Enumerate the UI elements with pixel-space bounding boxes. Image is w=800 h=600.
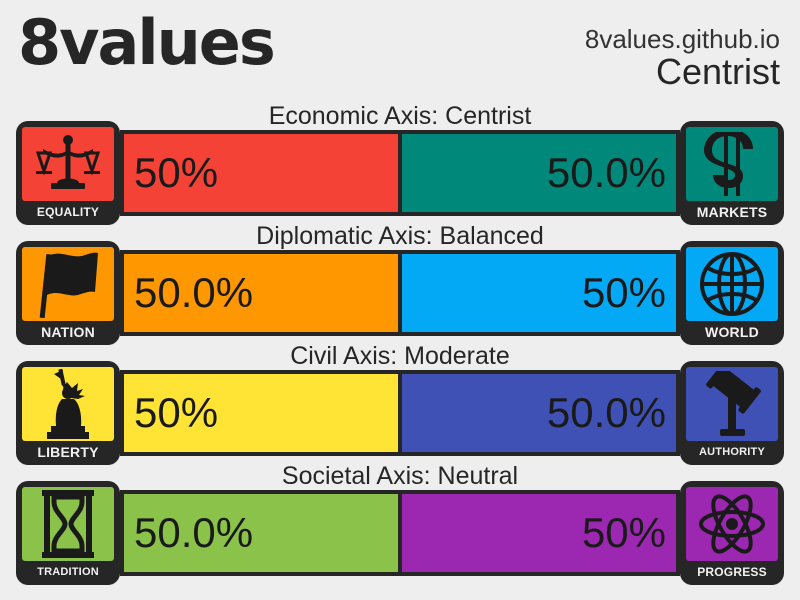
axis-bar: 50.0% 50% — [120, 490, 680, 576]
axis-row: Diplomatic Axis: Balanced 50.0% 50% NATI… — [0, 223, 800, 343]
axis-bar-left-segment: 50% — [124, 374, 398, 452]
axis-left-badge: NATION — [16, 241, 120, 345]
axis-left-badge: LIBERTY — [16, 361, 120, 465]
axis-title: Diplomatic Axis: Balanced — [0, 223, 800, 249]
axis-title: Economic Axis: Centrist — [0, 103, 800, 129]
axis-right-percent: 50% — [582, 272, 666, 314]
axis-title: Civil Axis: Moderate — [0, 343, 800, 369]
hourglass-icon — [22, 487, 114, 561]
axis-right-percent: 50.0% — [547, 392, 666, 434]
axis-row: Civil Axis: Moderate 50% 50.0% LIBERTY — [0, 343, 800, 463]
ideology-result-label: Centrist — [656, 54, 780, 90]
axis-left-percent: 50.0% — [134, 272, 253, 314]
axis-left-percent: 50% — [134, 392, 218, 434]
axis-left-label: NATION — [22, 321, 114, 343]
axis-bar-right-segment: 50.0% — [402, 374, 676, 452]
globe-icon — [686, 247, 778, 321]
axis-right-percent: 50.0% — [547, 152, 666, 194]
site-url-label: 8values.github.io — [585, 26, 780, 52]
axis-bar: 50% 50.0% — [120, 130, 680, 216]
axis-row: Societal Axis: Neutral 50.0% 50% TRADITI… — [0, 463, 800, 583]
axis-title: Societal Axis: Neutral — [0, 463, 800, 489]
axis-row: Economic Axis: Centrist 50% 50.0% EQUALI… — [0, 103, 800, 223]
axis-right-label: PROGRESS — [686, 561, 778, 583]
axis-bar-left-segment: 50.0% — [124, 254, 398, 332]
gavel-icon — [686, 367, 778, 441]
atom-icon — [686, 487, 778, 561]
axis-bar-right-segment: 50% — [402, 254, 676, 332]
app-title: 8values — [18, 12, 274, 74]
axis-right-badge: PROGRESS — [680, 481, 784, 585]
header: 8values 8values.github.io Centrist — [0, 0, 800, 100]
axis-left-percent: 50% — [134, 152, 218, 194]
axis-left-badge: EQUALITY — [16, 121, 120, 225]
axis-bar-left-segment: 50% — [124, 134, 398, 212]
flag-icon — [22, 247, 114, 321]
axis-right-label: WORLD — [686, 321, 778, 343]
axis-bar-right-segment: 50.0% — [402, 134, 676, 212]
axis-right-badge: WORLD — [680, 241, 784, 345]
axis-right-label: MARKETS — [686, 201, 778, 223]
axis-left-label: LIBERTY — [22, 441, 114, 463]
axis-right-badge: MARKETS — [680, 121, 784, 225]
scales-icon — [22, 127, 114, 201]
axis-left-badge: TRADITION — [16, 481, 120, 585]
axis-bar-left-segment: 50.0% — [124, 494, 398, 572]
axis-bar: 50.0% 50% — [120, 250, 680, 336]
statue-of-liberty-icon — [22, 367, 114, 441]
axis-bar-right-segment: 50% — [402, 494, 676, 572]
axis-left-label: EQUALITY — [22, 201, 114, 223]
axis-right-badge: AUTHORITY — [680, 361, 784, 465]
axis-right-percent: 50% — [582, 512, 666, 554]
dollar-icon — [686, 127, 778, 201]
axis-left-label: TRADITION — [22, 561, 114, 583]
axis-bar: 50% 50.0% — [120, 370, 680, 456]
axis-left-percent: 50.0% — [134, 512, 253, 554]
axis-right-label: AUTHORITY — [686, 441, 778, 463]
